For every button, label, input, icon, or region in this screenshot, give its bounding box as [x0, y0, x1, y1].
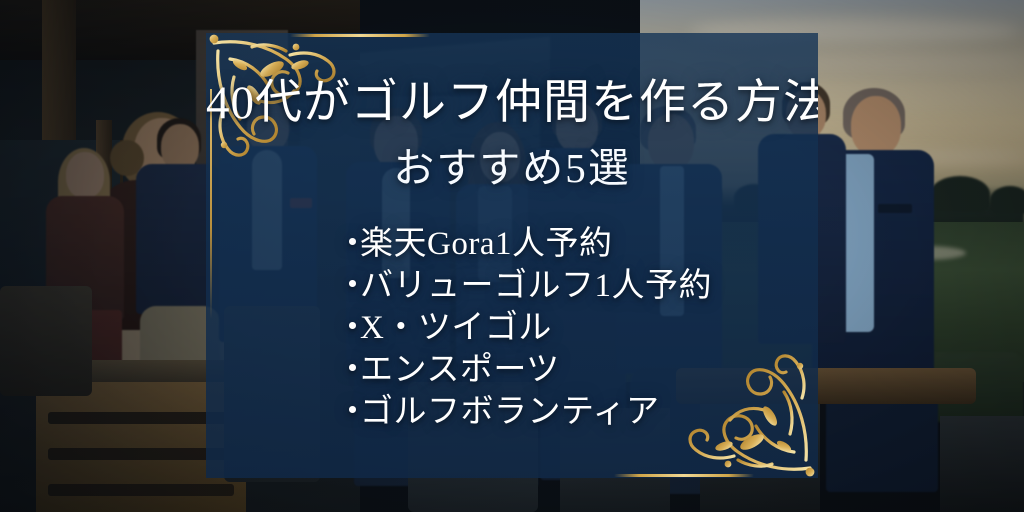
- list-item: ・X・ツイゴル: [336, 307, 806, 349]
- patio-chair: [940, 416, 1024, 512]
- wood-post: [42, 0, 76, 160]
- bullet-marker: ・: [336, 349, 360, 391]
- list-item-label: バリューゴルフ1人予約: [360, 268, 712, 304]
- feature-list: ・楽天Gora1人予約 ・バリューゴルフ1人予約 ・X・ツイゴル ・エンスポーツ…: [336, 223, 806, 433]
- bullet-marker: ・: [336, 391, 360, 433]
- list-item-label: ゴルフボランティア: [360, 394, 660, 430]
- list-item: ・楽天Gora1人予約: [336, 223, 806, 265]
- bullet-marker: ・: [336, 265, 360, 307]
- list-item-label: エンスポーツ: [360, 352, 560, 388]
- banner-title: 40代がゴルフ仲間を作る方法: [206, 78, 818, 130]
- patio-chair: [0, 286, 92, 396]
- banner-image: 40代がゴルフ仲間を作る方法 おすすめ5選 ・楽天Gora1人予約 ・バリューゴ…: [0, 0, 1024, 512]
- banner-subtitle: おすすめ5選: [206, 146, 818, 191]
- list-item-label: 楽天Gora1人予約: [360, 226, 612, 262]
- list-item-label: X・ツイゴル: [360, 310, 552, 346]
- bullet-marker: ・: [336, 307, 360, 349]
- list-item: ・エンスポーツ: [336, 349, 806, 391]
- chair-slat: [48, 484, 234, 496]
- list-item: ・バリューゴルフ1人予約: [336, 265, 806, 307]
- text-overlay-panel: 40代がゴルフ仲間を作る方法 おすすめ5選 ・楽天Gora1人予約 ・バリューゴ…: [206, 33, 818, 478]
- tree: [990, 186, 1024, 214]
- bullet-marker: ・: [336, 223, 360, 265]
- tree: [930, 176, 990, 212]
- list-item: ・ゴルフボランティア: [336, 391, 806, 433]
